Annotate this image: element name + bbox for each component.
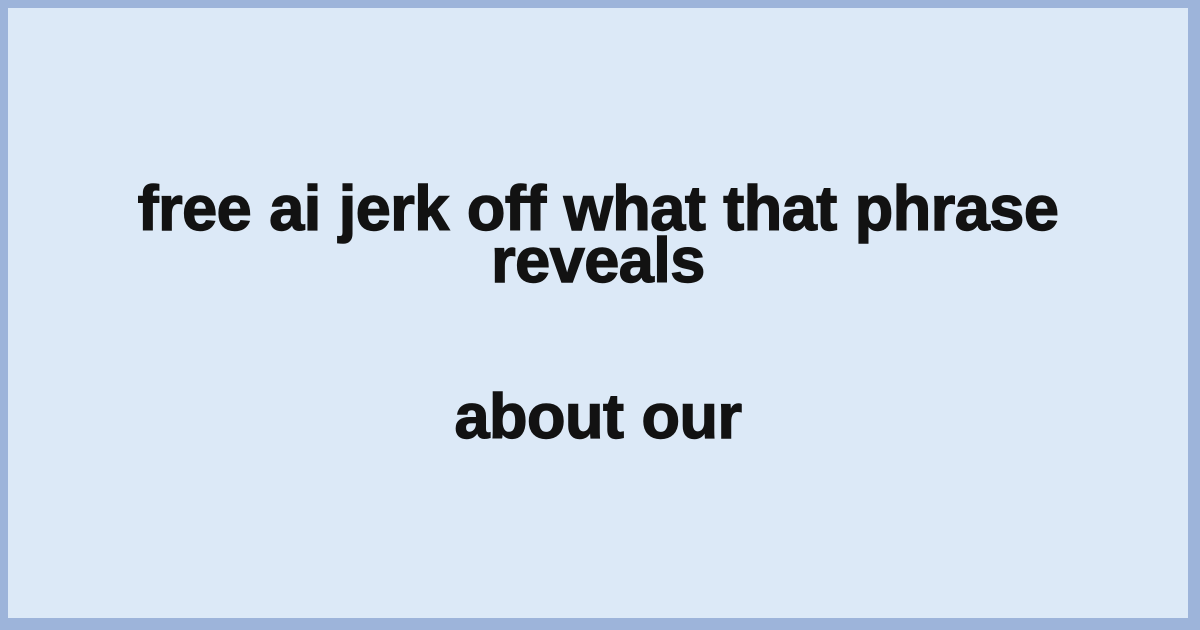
- card-frame: free ai jerk off what that phrase reveal…: [0, 0, 1200, 630]
- headline-line-2: about our: [54, 391, 1142, 443]
- card-canvas: free ai jerk off what that phrase reveal…: [8, 8, 1188, 618]
- headline-line-1: free ai jerk off what that phrase reveal…: [54, 183, 1142, 287]
- headline-block: free ai jerk off what that phrase reveal…: [8, 79, 1188, 547]
- page-title: free ai jerk off what that phrase reveal…: [54, 79, 1142, 547]
